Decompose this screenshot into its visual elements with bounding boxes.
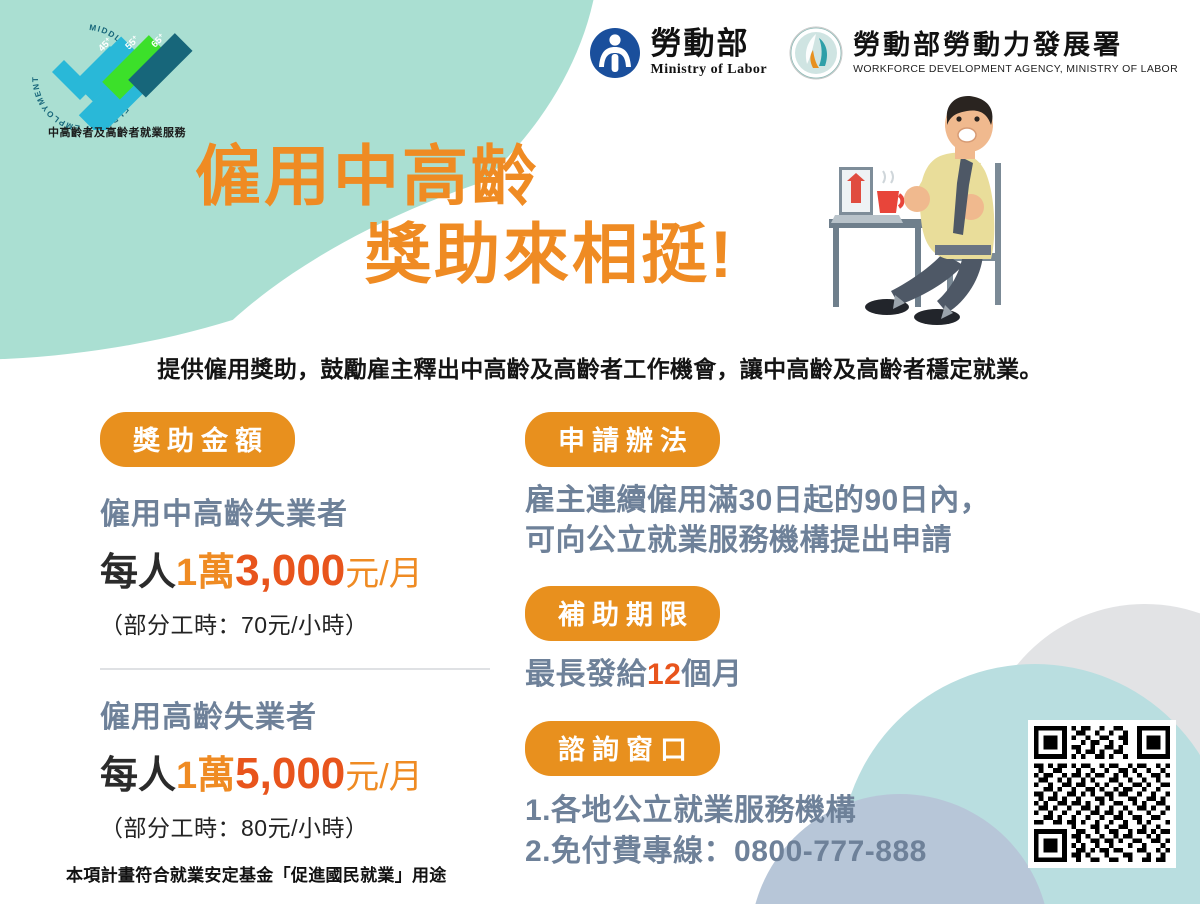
- apply-method-text: 雇主連續僱用滿30日起的90日內， 可向公立就業服務機構提出申請: [525, 481, 1145, 560]
- service-logo-mark: MIDDLE-AGED AND ELDERLY EMPLOYMENT SERVI…: [18, 12, 208, 130]
- badge-contact: 諮詢窗口: [525, 721, 720, 776]
- subsidy-heading-1: 僱用中高齡失業者: [100, 489, 520, 533]
- celebrating-worker-icon: [795, 95, 1055, 345]
- agency-name-en: WORKFORCE DEVELOPMENT AGENCY, MINISTRY O…: [853, 63, 1178, 75]
- office-worker-illustration: [795, 95, 1055, 345]
- amount-suffix-2: 元/月: [345, 758, 422, 796]
- subsidy-amount-1: 每人1萬3,000元/月: [100, 541, 520, 596]
- subsidy-amount-section: 獎助金額 僱用中高齡失業者 每人1萬3,000元/月 （部分工時：70元/小時）…: [100, 412, 520, 843]
- apply-method-block: 申請辦法 雇主連續僱用滿30日起的90日內， 可向公立就業服務機構提出申請: [525, 412, 1145, 560]
- employment-service-logo: MIDDLE-AGED AND ELDERLY EMPLOYMENT SERVI…: [18, 12, 208, 137]
- subsidy-item-elderly: 僱用高齡失業者 每人1萬5,000元/月 （部分工時：80元/小時）: [100, 692, 520, 843]
- duration-before: 最長發給: [525, 658, 647, 691]
- amount-suffix-1: 元/月: [345, 555, 422, 593]
- duration-text: 最長發給12個月: [525, 655, 1145, 695]
- duration-months: 12: [647, 658, 681, 691]
- poster-subtitle: 提供僱用獎助，鼓勵雇主釋出中高齡及高齡者工作機會，讓中高齡及高齡者穩定就業。: [0, 350, 1200, 384]
- ministry-name-en: Ministry of Labor: [650, 62, 767, 78]
- poster-canvas: MIDDLE-AGED AND ELDERLY EMPLOYMENT SERVI…: [0, 0, 1200, 904]
- ministry-of-labor-logo: 勞動部 Ministry of Labor: [589, 27, 767, 79]
- amount-prefix-1: 每人: [100, 552, 176, 594]
- apply-line-1: 雇主連續僱用滿30日起的90日內，: [525, 481, 1145, 521]
- section-divider: [100, 668, 490, 670]
- badge-duration: 補助期限: [525, 586, 720, 641]
- subsidy-heading-2: 僱用高齡失業者: [100, 692, 520, 736]
- subsidy-note-1: （部分工時：70元/小時）: [100, 606, 520, 640]
- badge-subsidy-amount: 獎助金額: [100, 412, 295, 467]
- badge-apply-method: 申請辦法: [525, 412, 720, 467]
- agency-emblem-icon: [789, 26, 843, 80]
- workforce-agency-logo: 勞動部勞動力發展署 WORKFORCE DEVELOPMENT AGENCY, …: [789, 26, 1178, 80]
- qr-code[interactable]: [1028, 720, 1176, 868]
- service-logo-caption: 中高齡者及高齡者就業服務: [32, 124, 202, 140]
- agency-name-zh: 勞動部勞動力發展署: [853, 31, 1178, 61]
- subsidy-note-2: （部分工時：80元/小時）: [100, 809, 520, 843]
- qr-code-image: [1034, 726, 1170, 862]
- ministry-name-zh: 勞動部: [650, 28, 767, 61]
- ministry-emblem-icon: [589, 27, 641, 79]
- poster-title: 僱用中高齡 獎助來相挺!: [195, 138, 835, 294]
- amount-prefix-2: 每人: [100, 755, 176, 797]
- amount-number-1: 3,000: [235, 546, 345, 595]
- footer-note: 本項計畫符合就業安定基金「促進國民就業」用途: [66, 861, 447, 886]
- title-line-1: 僱用中高齡: [195, 138, 835, 216]
- amount-wan-2: 1萬: [176, 755, 235, 797]
- government-logos: 勞動部 Ministry of Labor 勞動部勞動力發展署 WORKFORC…: [589, 26, 1178, 80]
- title-line-2: 獎助來相挺!: [195, 216, 835, 294]
- amount-number-2: 5,000: [235, 749, 345, 798]
- subsidy-item-middle-aged: 僱用中高齡失業者 每人1萬3,000元/月 （部分工時：70元/小時）: [100, 489, 520, 640]
- duration-block: 補助期限 最長發給12個月: [525, 586, 1145, 695]
- subsidy-amount-2: 每人1萬5,000元/月: [100, 744, 520, 799]
- amount-wan-1: 1萬: [176, 552, 235, 594]
- duration-after: 個月: [681, 658, 742, 691]
- apply-line-2: 可向公立就業服務機構提出申請: [525, 521, 1145, 561]
